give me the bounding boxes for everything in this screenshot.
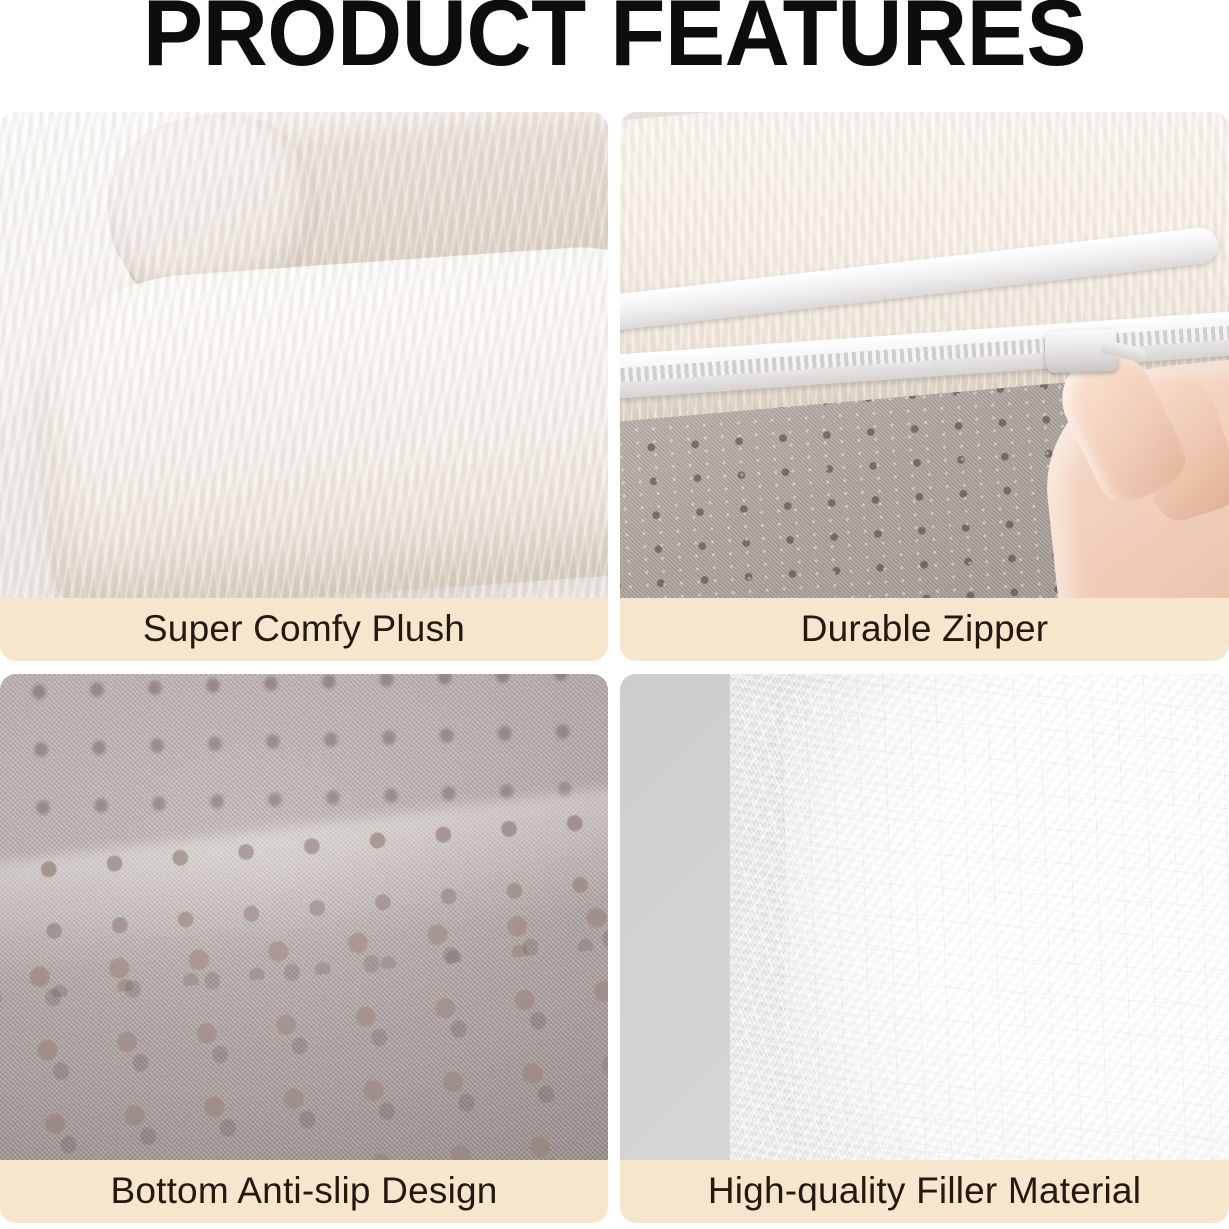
feature-photo-high-quality-filler-material (620, 674, 1229, 1160)
feature-card-super-comfy-plush: Super Comfy Plush (0, 112, 608, 661)
photo-vignette (0, 674, 608, 1160)
fur-texture-overlay (0, 112, 608, 598)
feature-card-high-quality-filler-material: High-quality Filler Material (620, 674, 1229, 1223)
feature-card-bottom-anti-slip-design: Bottom Anti-slip Design (0, 674, 608, 1223)
feature-caption-bar: Super Comfy Plush (0, 598, 608, 661)
feature-caption-bar: Bottom Anti-slip Design (0, 1160, 608, 1223)
feature-caption-label: Durable Zipper (801, 610, 1049, 647)
feature-grid: Super Comfy Plush (0, 112, 1229, 1229)
feature-caption-bar: High-quality Filler Material (620, 1160, 1229, 1223)
feature-photo-durable-zipper (620, 112, 1229, 598)
feature-photo-super-comfy-plush (0, 112, 608, 598)
feature-photo-bottom-anti-slip-design (0, 674, 608, 1160)
product-features-infographic: PRODUCT FEATURES Super Comfy Plush (0, 0, 1229, 1229)
page-title: PRODUCT FEATURES (25, 0, 1205, 80)
fiber-stray-hairs (770, 674, 1229, 1160)
feature-card-durable-zipper: Durable Zipper (620, 112, 1229, 661)
feature-caption-label: Bottom Anti-slip Design (110, 1172, 497, 1209)
feature-caption-bar: Durable Zipper (620, 598, 1229, 661)
feature-caption-label: High-quality Filler Material (708, 1172, 1141, 1209)
feature-caption-label: Super Comfy Plush (143, 610, 465, 647)
